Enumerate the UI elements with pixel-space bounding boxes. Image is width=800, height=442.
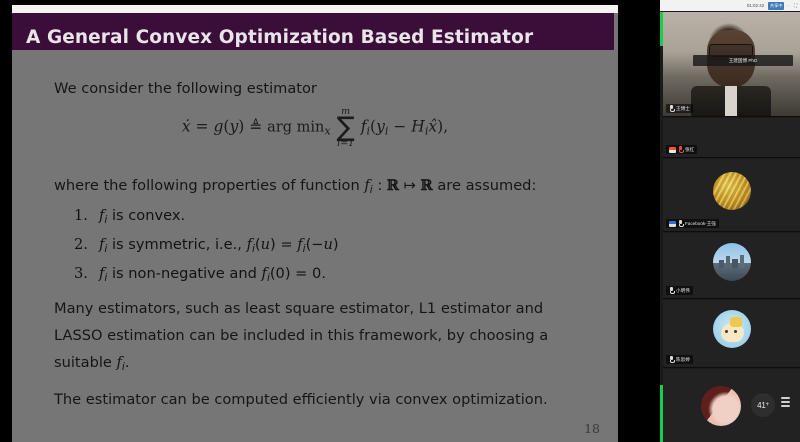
paragraph-line-1: Many estimators, such as least square es… <box>54 300 543 317</box>
list-item-text: fi is non-negative and fi(0) = 0. <box>99 265 326 284</box>
participant-name-bar: 小明伟 <box>666 286 693 295</box>
avatar <box>713 310 751 348</box>
list-item-text: fi is symmetric, i.e., fi(u) = fi(−u) <box>99 236 339 255</box>
equation-minus: − <box>388 118 411 136</box>
participant-tile[interactable]: 张红 <box>663 118 800 158</box>
equation-xhat: x̂ <box>428 118 437 136</box>
equation-y2: y <box>376 118 385 136</box>
list-item-number: 3. <box>74 265 88 282</box>
speaker-name-overlay-text: 王建国博 PhD <box>729 58 758 64</box>
participant-name-bar: 张红 <box>666 145 697 154</box>
mic-icon <box>669 356 674 363</box>
participant-name: Facebook-王强 <box>685 221 716 227</box>
speaker-name-overlay: 王建国博 PhD <box>693 55 793 66</box>
overflow-count: 41 <box>757 401 766 410</box>
list-item-number: 2. <box>74 236 88 253</box>
equation-g-of-y: g <box>213 118 223 136</box>
list-item-number: 1. <box>74 207 88 224</box>
paragraph-line-3-pre: suitable <box>54 354 117 371</box>
paragraph-2: The estimator can be computed efficientl… <box>54 391 548 408</box>
sum-lower-limit: i=1 <box>337 139 355 149</box>
equation-lhs: ẋ <box>182 118 191 136</box>
estimator-equation: ẋ = g(y) ≜ arg minx m ∑ i=1 fi(yi − Hix̂… <box>12 107 618 148</box>
paragraph-line-2: LASSO estimation can be included in this… <box>54 327 548 344</box>
avatar <box>701 386 741 426</box>
participant-tile[interactable]: Facebook-王强 <box>663 159 800 232</box>
where-text-a: where the following properties of functi… <box>54 177 364 194</box>
expand-icon[interactable]: ⛶ <box>794 3 797 8</box>
slide-title: A General Convex Optimization Based Esti… <box>26 27 533 48</box>
zoom-meeting-window: A General Convex Optimization Based Esti… <box>0 0 800 442</box>
slide-title-bar: A General Convex Optimization Based Esti… <box>12 13 614 50</box>
equation-H: H <box>411 118 425 136</box>
where-reals-2: ℝ <box>421 177 433 194</box>
participant-name: 小明伟 <box>676 288 690 294</box>
flag-blue-icon <box>669 221 676 227</box>
mic-muted-icon <box>678 146 683 153</box>
mic-icon <box>669 105 674 112</box>
participant-name: 王博士 <box>676 106 690 112</box>
participant-video-rail[interactable]: 01:02:42 共享中 · ⛶ 王建国博 PhD 王博士 <box>660 0 800 442</box>
paragraph-line-3: suitable fi. <box>54 354 129 373</box>
presentation-slide: A General Convex Optimization Based Esti… <box>12 5 618 442</box>
participant-tile-overflow[interactable]: 41+ <box>663 369 800 442</box>
participant-name-bar: 王博士 <box>666 104 693 113</box>
participant-tile[interactable]: 陈思婷 <box>663 300 800 368</box>
slide-top-strip <box>12 5 618 13</box>
slide-body: We consider the following estimator ẋ = … <box>12 50 618 442</box>
equation-summation: m ∑ i=1 <box>337 107 355 148</box>
equation-y: y <box>229 118 238 136</box>
participant-name: 张红 <box>685 147 694 153</box>
equation-close: ), <box>437 118 448 136</box>
shared-screen-area[interactable]: A General Convex Optimization Based Esti… <box>0 0 660 442</box>
slide-intro-text: We consider the following estimator <box>54 80 317 97</box>
top-bar-separator: · <box>788 3 789 8</box>
equation-triangleq: ≜ <box>249 118 267 136</box>
mic-icon <box>678 220 683 227</box>
avatar <box>713 172 751 210</box>
equation-argmin: arg min <box>267 120 324 136</box>
where-colon: : <box>373 177 387 194</box>
slide-page-number: 18 <box>584 421 600 436</box>
equation-eq-sign: = <box>196 118 214 136</box>
slide-where-line: where the following properties of functi… <box>54 177 536 196</box>
participant-name-bar: 陈思婷 <box>666 355 693 364</box>
meeting-timer: 01:02:42 <box>747 3 764 8</box>
mic-icon <box>669 287 674 294</box>
more-participants-icon[interactable] <box>781 397 790 407</box>
sum-sigma-symbol: ∑ <box>337 117 355 139</box>
participant-name: 陈思婷 <box>676 357 690 363</box>
participant-name-bar: Facebook-王强 <box>666 219 719 228</box>
avatar <box>713 243 751 281</box>
where-arrow: ↦ <box>399 177 421 194</box>
overflow-suffix: + <box>766 402 769 408</box>
where-text-c: are assumed: <box>433 177 537 194</box>
sharing-status-badge: 共享中 <box>768 2 785 10</box>
meeting-top-bar[interactable]: 01:02:42 共享中 · ⛶ <box>660 0 800 11</box>
equation-argmin-sub: x <box>324 125 330 138</box>
equation-paren-close: ) <box>238 118 244 136</box>
flag-orange-icon <box>669 147 676 153</box>
participant-tile-active-speaker[interactable]: 王建国博 PhD 王博士 <box>663 12 800 117</box>
list-item-text: fi is convex. <box>99 207 185 226</box>
where-reals-1: ℝ <box>387 177 399 194</box>
speaker-shirt <box>725 86 737 117</box>
overflow-count-badge[interactable]: 41+ <box>751 393 775 417</box>
participant-tile[interactable]: 小明伟 <box>663 233 800 299</box>
paragraph-line-3-post: . <box>125 354 130 371</box>
